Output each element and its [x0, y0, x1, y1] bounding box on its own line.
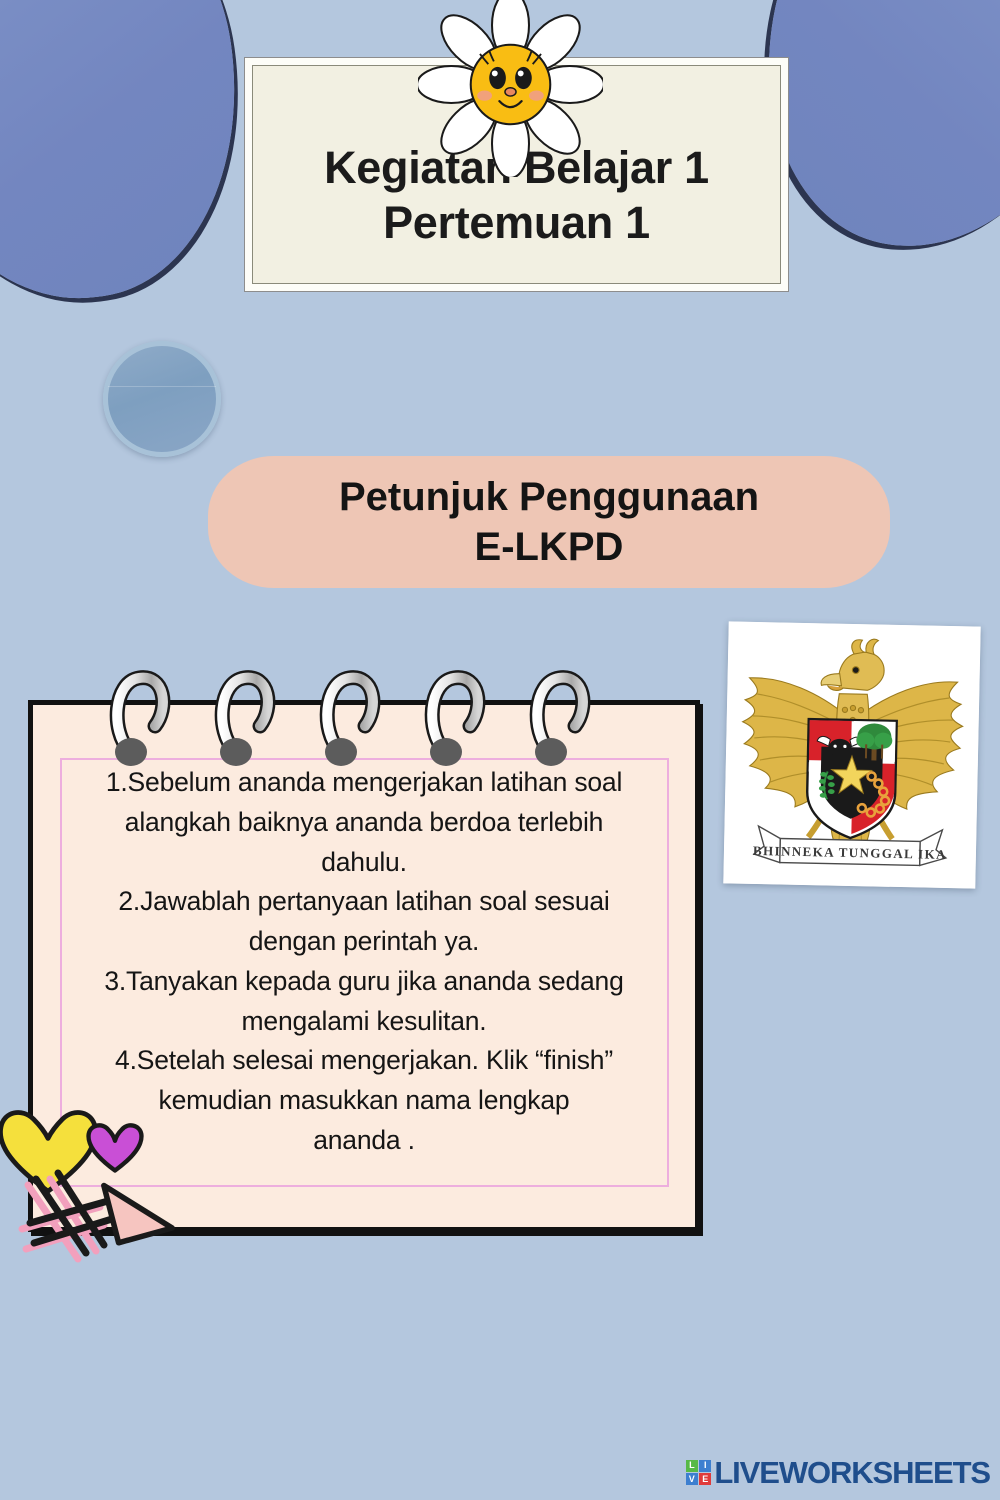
liveworksheets-wordmark: LIVEWORKSHEETS [714, 1457, 990, 1488]
logo-tile-v: V [686, 1473, 698, 1485]
banner-line-2: E-LKPD [475, 522, 624, 572]
liveworksheets-tiles-icon: L I V E [686, 1460, 712, 1486]
banner-line-1: Petunjuk Penggunaan [339, 472, 759, 522]
daisy-flower-icon [418, 0, 603, 177]
garuda-pancasila-emblem: BHINNEKA TUNGGAL IKA [723, 621, 980, 888]
page-title-line-2: Pertemuan 1 [383, 196, 650, 251]
background-blob-top-left [0, 0, 263, 322]
circle-stamp-decoration [103, 341, 221, 457]
instructions-banner: Petunjuk Penggunaan E-LKPD [208, 456, 890, 588]
logo-tile-l: L [686, 1460, 698, 1472]
logo-tile-i: I [699, 1460, 711, 1472]
liveworksheets-logo[interactable]: L I V E LIVEWORKSHEETS [686, 1457, 990, 1488]
instructions-notebook: 1.Sebelum ananda mengerjakan latihan soa… [28, 700, 700, 1232]
notebook-instructions-text: 1.Sebelum ananda mengerjakan latihan soa… [49, 763, 679, 1161]
logo-tile-e: E [699, 1473, 711, 1485]
